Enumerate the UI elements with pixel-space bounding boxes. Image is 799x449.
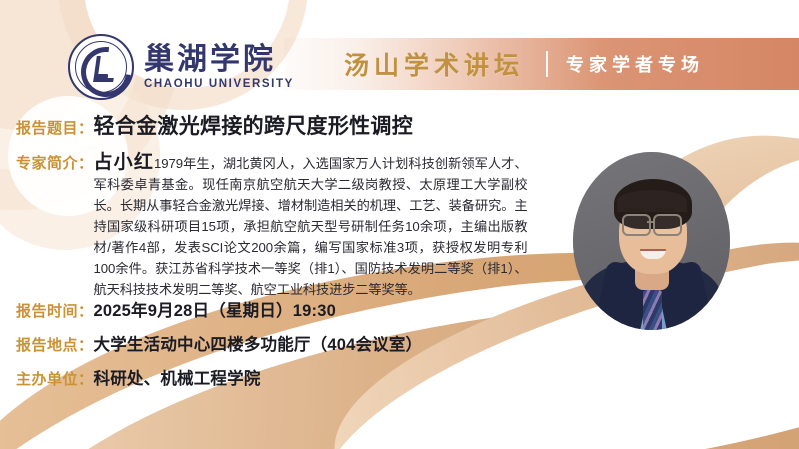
report-location-value: 大学生活动中心四楼多功能厅（404会议室）: [94, 331, 423, 355]
portrait-glasses-right: [653, 214, 682, 236]
banner-divider: [546, 51, 548, 77]
banner-main-title: 汤山学术讲坛: [344, 46, 524, 82]
banner-subtitle: 专家学者专场: [566, 51, 704, 77]
report-organizer-value: 科研处、机械工程学院: [94, 365, 261, 389]
speaker-bio-paragraph: 占小红1979年生，湖北黄冈人，入选国家万人计划科技创新领军人才、军科委卓青基金…: [94, 152, 528, 300]
banner-band: 汤山学术讲坛 专家学者专场: [284, 38, 799, 90]
university-logo: 巢湖学院 CHAOHU UNIVERSITY: [68, 34, 294, 100]
speaker-bio-label: 专家简介：: [16, 152, 94, 173]
report-organizer-row: 主办单位： 科研处、机械工程学院: [16, 365, 261, 389]
university-wordmark: 巢湖学院 CHAOHU UNIVERSITY: [144, 44, 294, 91]
report-time-value: 2025年9月28日（星期日）19:30: [94, 297, 336, 321]
report-title-row: 报告题目： 轻合金激光焊接的跨尺度形性调控: [16, 110, 413, 140]
speaker-bio-text: 1979年生，湖北黄冈人，入选国家万人计划科技创新领军人才、军科委卓青基金。现任…: [94, 156, 528, 297]
report-time-label: 报告时间：: [16, 300, 94, 321]
speaker-bio-row: 专家简介： 占小红1979年生，湖北黄冈人，入选国家万人计划科技创新领军人才、军…: [16, 152, 536, 300]
portrait-glasses-left: [622, 214, 651, 236]
report-title-value: 轻合金激光焊接的跨尺度形性调控: [94, 110, 414, 140]
university-seal-icon: [68, 34, 134, 100]
portrait-brow-left: [624, 208, 644, 211]
university-name-cn: 巢湖学院: [144, 44, 294, 76]
report-location-label: 报告地点：: [16, 334, 94, 355]
portrait-brow-right: [655, 208, 675, 211]
portrait-tie: [643, 290, 662, 330]
speaker-portrait: [573, 152, 730, 330]
university-name-en: CHAOHU UNIVERSITY: [144, 78, 294, 90]
portrait-glasses-bridge: [647, 221, 653, 223]
report-title-label: 报告题目：: [16, 117, 94, 138]
report-location-row: 报告地点： 大学生活动中心四楼多功能厅（404会议室）: [16, 331, 422, 355]
speaker-bio-block: 占小红1979年生，湖北黄冈人，入选国家万人计划科技创新领军人才、军科委卓青基金…: [94, 152, 528, 300]
speaker-name: 占小红: [94, 152, 155, 173]
report-organizer-label: 主办单位：: [16, 368, 94, 389]
poster-canvas: 汤山学术讲坛 专家学者专场 巢湖学院 CHAOHU UNIVERSITY: [0, 0, 799, 449]
report-time-row: 报告时间： 2025年9月28日（星期日）19:30: [16, 297, 336, 321]
